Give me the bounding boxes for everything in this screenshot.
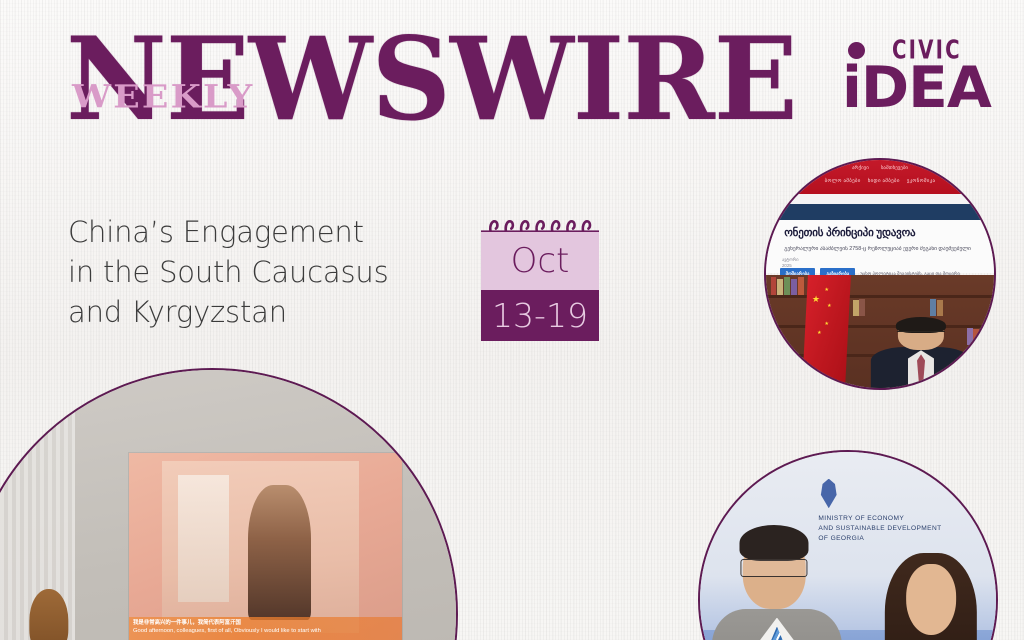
page-title: China’s Engagement in the South Caucasus… bbox=[68, 212, 438, 332]
news-nav-item: ბოლო ამბები bbox=[825, 178, 861, 184]
chinese-flag-icon: ★ ★ ★ ★ ★ bbox=[802, 275, 851, 388]
headline-line-3: and Kyrgyzstan bbox=[68, 292, 438, 332]
ministry-man-figure bbox=[712, 523, 842, 640]
news-blue-band bbox=[766, 204, 994, 220]
ministry-woman-figure bbox=[872, 553, 990, 640]
glasses-icon bbox=[741, 559, 808, 577]
news-article-subtitle: გენერალური ასამბლეის 2758-ც რეზოლუციაბ ე… bbox=[784, 246, 985, 252]
civic-idea-logo[interactable]: CIVIC iDEA bbox=[838, 34, 988, 122]
news-photo-region: ★ ★ ★ ★ ★ bbox=[766, 275, 994, 388]
speaker-figure bbox=[17, 595, 80, 640]
news-nav-item: სამთხევები bbox=[881, 165, 908, 171]
projection-subtitle-band: 我是非常高兴的一件事儿，我简代表阿富汗国 Good afternoon, col… bbox=[129, 617, 402, 640]
date-badge-month-area: Oct bbox=[481, 232, 599, 290]
logo-main-word: iDEA bbox=[842, 60, 991, 117]
flag-star-icon: ★ bbox=[824, 320, 829, 329]
flag-star-icon: ★ bbox=[817, 329, 822, 338]
date-badge-days: 13-19 bbox=[492, 296, 588, 335]
news-nav-item: ხიდი ამბები bbox=[868, 178, 900, 184]
photo-news-article[interactable]: არქივი სამთხევები ბოლო ამბები ხიდი ამბებ… bbox=[764, 158, 996, 390]
date-badge-days-area: 13-19 bbox=[481, 290, 599, 341]
diplomat-figure bbox=[871, 318, 971, 388]
date-badge-month: Oct bbox=[511, 241, 570, 281]
photo-ministry-meeting[interactable]: MINISTRY OF ECONOMY AND SUSTAINABLE DEVE… bbox=[698, 450, 998, 640]
news-article-title: ონეთის პრინციპი უდავოა bbox=[784, 226, 980, 239]
news-meta-author: ავტორი bbox=[782, 257, 799, 263]
subtitle-chinese: 我是非常高兴的一件事儿，我简代表阿富汗国 bbox=[133, 619, 398, 627]
headline-line-1: China’s Engagement bbox=[68, 212, 438, 252]
news-article-meta: ავტორი 2025 bbox=[782, 257, 799, 269]
news-nav-top-row: არქივი სამთხევები bbox=[766, 165, 994, 171]
photo-conference-inner: 我是非常高兴的一件事儿，我简代表阿富汗国 Good afternoon, col… bbox=[0, 370, 456, 640]
news-white-band bbox=[766, 194, 994, 204]
photo-news-inner: არქივი სამთხევები ბოლო ამბები ხიდი ამბებ… bbox=[766, 160, 994, 388]
date-badge: Oct 13-19 bbox=[481, 219, 599, 341]
headline-line-2: in the South Caucasus bbox=[68, 252, 438, 292]
masthead-kicker: WEEKLY bbox=[72, 82, 255, 114]
flag-star-icon: ★ bbox=[827, 302, 832, 311]
glasses-icon bbox=[897, 331, 945, 338]
news-nav-item: ეკონომიკა bbox=[907, 178, 936, 184]
projection-image bbox=[162, 461, 359, 633]
flag-star-icon: ★ bbox=[824, 286, 829, 295]
flag-star-icon: ★ bbox=[811, 295, 820, 304]
photo-conference[interactable]: 我是非常高兴的一件事儿，我简代表阿富汗国 Good afternoon, col… bbox=[0, 368, 458, 640]
photo-ministry-inner: MINISTRY OF ECONOMY AND SUSTAINABLE DEVE… bbox=[700, 452, 996, 640]
projection-screen: 我是非常高兴的一件事儿，我简代表阿富汗国 Good afternoon, col… bbox=[129, 453, 402, 640]
news-nav-item: არქივი bbox=[852, 165, 869, 171]
newsletter-canvas: NEWSWIRE WEEKLY CIVIC iDEA China’s Engag… bbox=[0, 0, 1024, 640]
subtitle-english: Good afternoon, colleagues, first of all… bbox=[133, 627, 398, 636]
news-nav-bottom-row: ბოლო ამბები ხიდი ამბები ეკონომიკა bbox=[766, 178, 994, 184]
